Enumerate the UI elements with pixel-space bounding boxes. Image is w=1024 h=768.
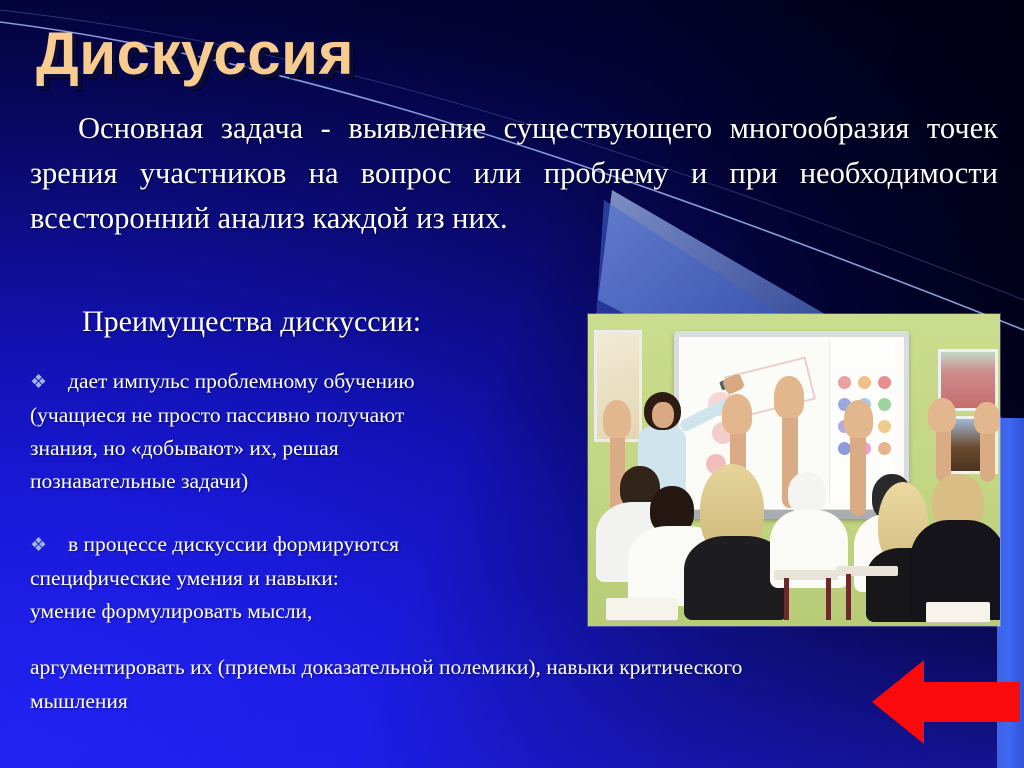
bullet-1-lead-text: дает импульс проблемному обучению: [68, 369, 415, 393]
photo-panel-icon: [858, 376, 871, 389]
photo-student-head: [788, 472, 826, 514]
bullet-2-lead-text: в процессе дискуссии формируются: [68, 532, 399, 556]
photo-raised-hand: [928, 398, 956, 432]
advantages-subheading: Преимущества дискуссии:: [82, 302, 421, 342]
bullet-2-line-3: умение формулировать мысли,: [30, 595, 570, 628]
bullet-first-line: ❖дает импульс проблемному обучению: [30, 365, 570, 399]
diamond-bullet-icon: ❖: [30, 529, 60, 562]
bullet-1-line-4: познавательные задачи): [30, 465, 570, 498]
diamond-bullet-icon: ❖: [30, 366, 60, 399]
bullet-first-line: ❖в процессе дискуссии формируются: [30, 528, 570, 562]
photo-raised-hand: [844, 400, 873, 438]
red-arrow-shaft: [920, 682, 1020, 722]
bullet-1-line-2: (учащиеся не просто пассивно получают: [30, 399, 570, 432]
bottom-paragraph-line-2: мышления: [30, 684, 1005, 718]
classroom-photo: [588, 314, 1000, 626]
photo-desk-leg: [784, 578, 789, 620]
photo-raised-arm: [850, 430, 866, 516]
photo-open-book: [606, 598, 678, 620]
photo-panel-icon: [838, 376, 851, 389]
photo-desk-leg: [826, 578, 831, 620]
bullet-item-2: ❖в процессе дискуссии формируются специф…: [30, 528, 570, 628]
bottom-paragraph: аргументировать их (приемы доказательной…: [30, 650, 1005, 718]
photo-raised-hand: [774, 376, 804, 418]
bullet-1-line-3: знания, но «добывают» их, решая: [30, 432, 570, 465]
photo-teacher-face: [652, 402, 674, 428]
bottom-paragraph-line-1: аргументировать их (приемы доказательной…: [30, 655, 742, 679]
bullet-item-1: ❖дает импульс проблемному обучению (учащ…: [30, 365, 570, 498]
photo-panel-icon: [878, 420, 891, 433]
photo-panel-icon: [878, 442, 891, 455]
red-arrow-head: [872, 660, 924, 744]
photo-raised-hand: [722, 394, 752, 434]
photo-panel-icon: [878, 376, 891, 389]
red-left-arrow-icon: [872, 660, 1020, 752]
photo-raised-hand: [974, 402, 1000, 434]
slide-title: Дискуссия: [36, 22, 354, 85]
photo-raised-hand: [603, 400, 631, 438]
bullet-2-line-2: специфические умения и навыки:: [30, 562, 570, 595]
intro-paragraph: Основная задача - выявление существующег…: [30, 106, 998, 241]
photo-panel-icon: [878, 398, 891, 411]
photo-desk-leg: [846, 574, 851, 620]
photo-open-book: [926, 602, 990, 622]
presentation-slide: Дискуссия Основная задача - выявление су…: [0, 0, 1024, 768]
